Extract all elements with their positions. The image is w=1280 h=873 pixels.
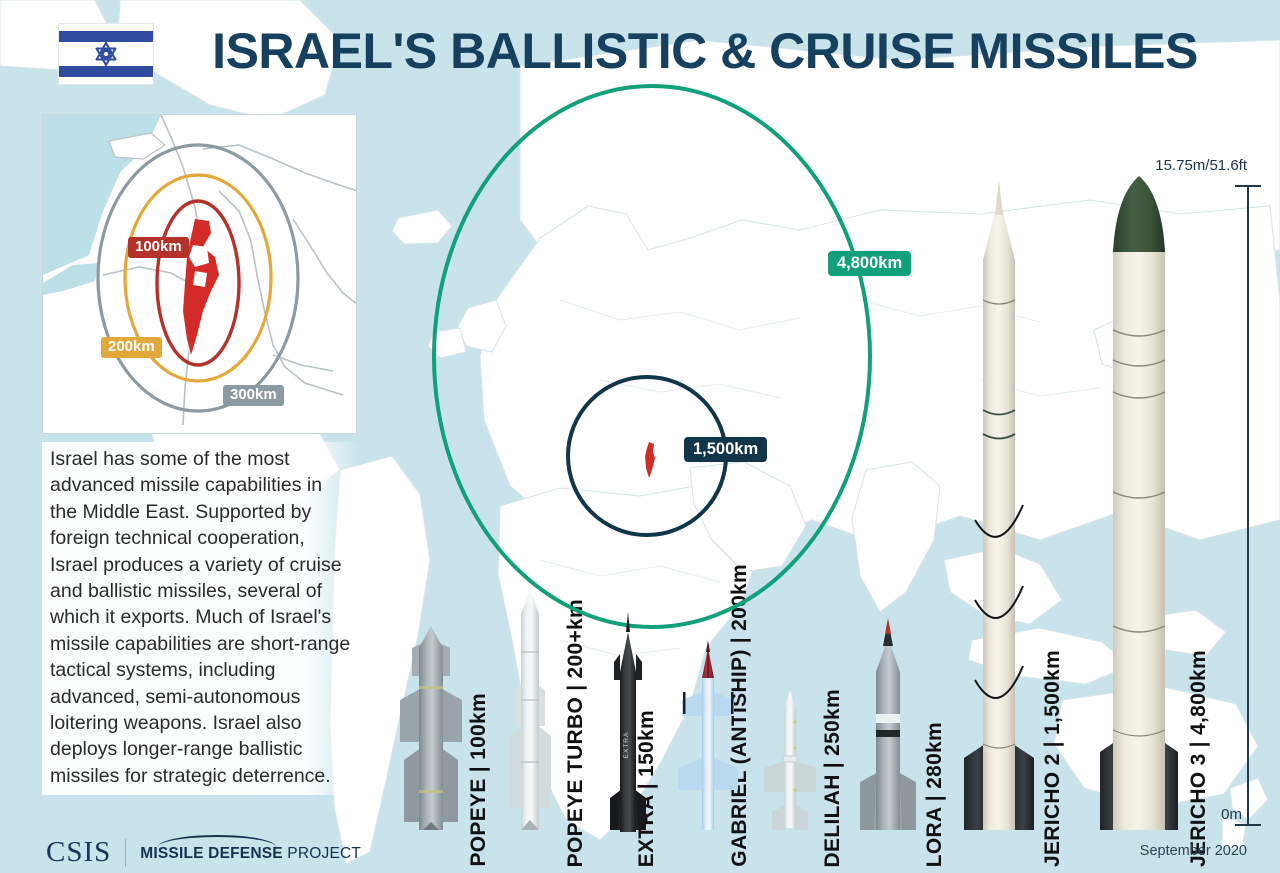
publication-date: September 2020: [1140, 843, 1247, 859]
description-text: Israel has some of the most advanced mis…: [42, 442, 360, 795]
range-label-4800km: 4,800km: [828, 251, 911, 276]
missile-jericho-3: [1100, 176, 1178, 830]
infographic-canvas: 4,800km 1,500km: [0, 0, 1280, 873]
scale-max-label: 15.75m/51.6ft: [1155, 157, 1247, 174]
project-bold-text: MISSILE DEFENSE: [140, 845, 283, 862]
height-scale-bar: [1247, 185, 1249, 826]
missile-delilah: [764, 690, 816, 830]
missile-jericho-2: [964, 180, 1034, 830]
missile-popeye: [400, 626, 462, 830]
inset-ring-label-300km: 300km: [223, 385, 284, 406]
inset-range-map: 100km 200km 300km: [42, 114, 357, 434]
inset-ring-label-100km: 100km: [128, 237, 189, 258]
csis-wordmark: CSIS: [46, 836, 111, 869]
project-light-text: PROJECT: [283, 845, 361, 862]
star-of-david-icon: [93, 41, 119, 67]
missile-lora: [860, 618, 916, 830]
header: ISRAEL'S BALLISTIC & CRUISE MISSILES: [0, 0, 1280, 100]
missile-extra: EXTRA: [610, 612, 646, 832]
logo-arc-icon: [158, 835, 276, 847]
missile-defense-project-wordmark: MISSILE DEFENSE PROJECT: [140, 842, 361, 863]
scale-zero-label: 0m: [1221, 806, 1242, 823]
range-label-1500km: 1,500km: [684, 437, 767, 462]
page-title: ISRAEL'S BALLISTIC & CRUISE MISSILES: [175, 21, 1235, 81]
missile-popeye-turbo: [509, 590, 551, 830]
flag-stripe-bottom: [59, 66, 153, 77]
csis-logo: CSIS MISSILE DEFENSE PROJECT: [46, 836, 361, 869]
inset-map-svg: [43, 115, 357, 434]
svg-text:EXTRA: EXTRA: [623, 732, 630, 759]
inset-ring-label-200km: 200km: [101, 337, 162, 358]
israel-flag-icon: [58, 23, 154, 85]
logo-divider: [125, 839, 126, 867]
missile-gabriel-antiship: [678, 640, 738, 830]
